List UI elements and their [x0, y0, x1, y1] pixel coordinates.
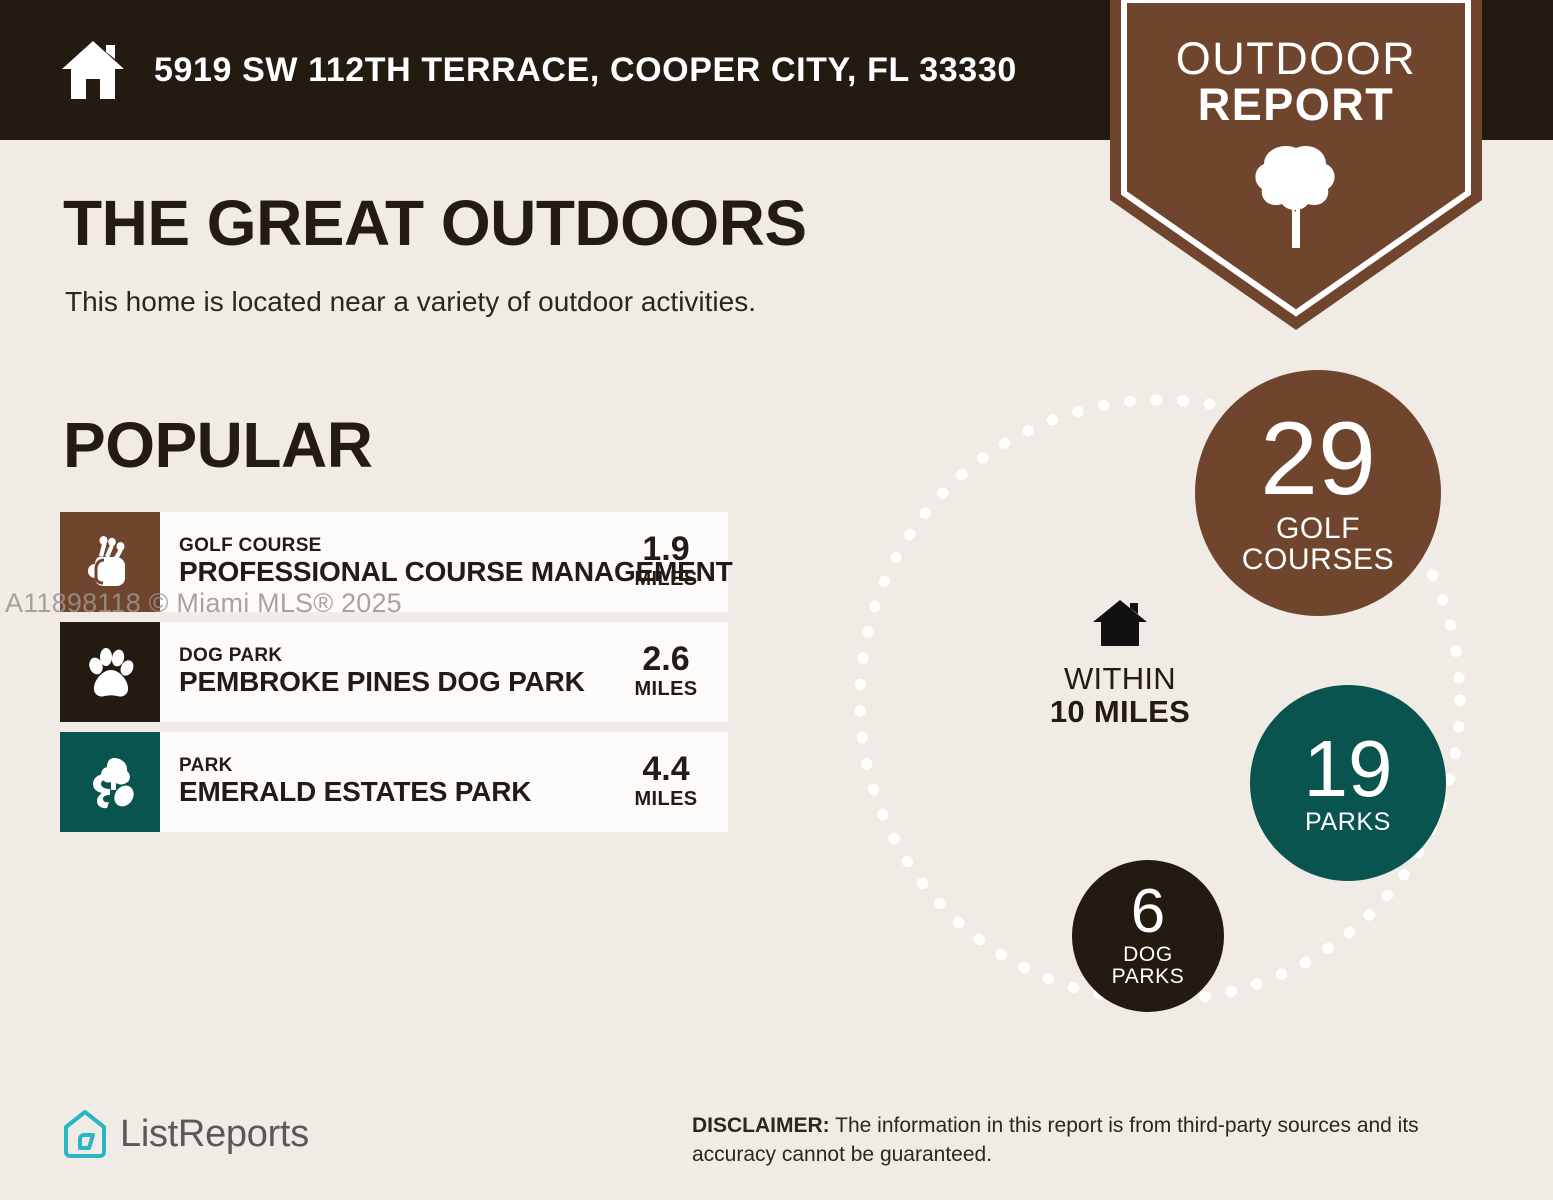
stat-label-line-2: COURSES [1242, 544, 1395, 576]
home-icon [1092, 598, 1148, 648]
listreports-house-icon [62, 1108, 108, 1160]
list-item-distance: 4.4 MILES [618, 732, 728, 832]
distance-unit: MILES [634, 786, 697, 812]
list-item-name: PROFESSIONAL COURSE MANAGEMENT [179, 557, 618, 588]
center-line-1: WITHIN [1015, 662, 1225, 695]
stat-parks: 19 PARKS [1250, 685, 1446, 881]
list-item-name: EMERALD ESTATES PARK [179, 777, 618, 808]
stat-label-line-1: DOG [1123, 944, 1173, 966]
paw-print-icon [82, 644, 138, 700]
stat-dog-parks: 6 DOG PARKS [1072, 860, 1224, 1012]
list-item-text: PARK EMERALD ESTATES PARK [160, 732, 618, 832]
park-tree-icon [82, 754, 138, 810]
stat-golf-courses: 29 GOLF COURSES [1195, 370, 1441, 616]
list-item-text: DOG PARK PEMBROKE PINES DOG PARK [160, 622, 618, 722]
popular-list: GOLF COURSE PROFESSIONAL COURSE MANAGEME… [60, 512, 728, 842]
list-item-distance: 1.9 MILES [618, 512, 728, 612]
disclaimer: DISCLAIMER: The information in this repo… [692, 1112, 1504, 1170]
center-line-2: 10 MILES [1015, 695, 1225, 729]
stat-value: 29 [1260, 410, 1376, 509]
park-tree-icon-tile [60, 732, 160, 832]
stat-value: 19 [1304, 731, 1393, 807]
within-10-miles-diagram: 29 GOLF COURSES 19 PARKS 6 DOG PARKS WIT… [820, 360, 1500, 1040]
mls-watermark: A11898118 © Miami MLS® 2025 [5, 588, 402, 619]
paw-print-icon-tile [60, 622, 160, 722]
stat-label-line-1: GOLF [1276, 513, 1360, 545]
stat-label-line-2: PARKS [1112, 966, 1185, 988]
outdoor-report-badge: OUTDOOR REPORT [1110, 0, 1482, 330]
outdoor-report-page: 5919 SW 112TH TERRACE, COOPER CITY, FL 3… [0, 0, 1553, 1200]
list-item[interactable]: PARK EMERALD ESTATES PARK 4.4 MILES [60, 732, 728, 832]
section-heading-popular: POPULAR [63, 413, 372, 477]
disclaimer-label: DISCLAIMER: [692, 1114, 830, 1137]
list-item[interactable]: DOG PARK PEMBROKE PINES DOG PARK 2.6 MIL… [60, 622, 728, 722]
header-content: 5919 SW 112TH TERRACE, COOPER CITY, FL 3… [60, 0, 1017, 140]
badge-shape [1110, 0, 1482, 330]
distance-unit: MILES [634, 566, 697, 592]
distance-value: 4.4 [642, 752, 689, 786]
page-subtitle: This home is located near a variety of o… [65, 285, 756, 319]
distance-value: 1.9 [642, 532, 689, 566]
list-item-category: PARK [179, 756, 618, 777]
list-item-category: DOG PARK [179, 646, 618, 667]
home-icon [60, 39, 126, 101]
distance-value: 2.6 [642, 642, 689, 676]
golf-bag-icon [82, 534, 138, 590]
page-title: THE GREAT OUTDOORS [63, 191, 807, 255]
stat-value: 6 [1131, 883, 1165, 942]
distance-unit: MILES [634, 676, 697, 702]
diagram-center: WITHIN 10 MILES [1015, 598, 1225, 730]
stat-label-line-1: PARKS [1305, 809, 1391, 836]
list-item-distance: 2.6 MILES [618, 622, 728, 722]
list-item-category: GOLF COURSE [179, 536, 618, 557]
property-address: 5919 SW 112TH TERRACE, COOPER CITY, FL 3… [154, 53, 1017, 87]
listreports-logo[interactable]: ListReports [62, 1108, 309, 1160]
listreports-wordmark: ListReports [120, 1115, 309, 1153]
list-item-name: PEMBROKE PINES DOG PARK [179, 667, 618, 698]
